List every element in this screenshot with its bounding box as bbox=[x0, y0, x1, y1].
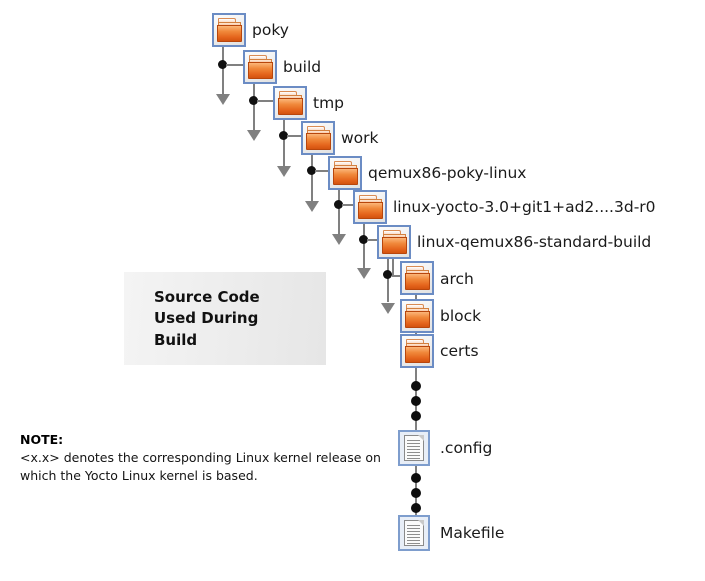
diagram-canvas: poky build tmp work qemux86-poky-linux l… bbox=[0, 0, 705, 581]
node-label-work: work bbox=[341, 131, 379, 147]
connector-vline-poky bbox=[222, 47, 224, 96]
connector-vline-build bbox=[253, 84, 255, 132]
folder-icon-linux-yocto[interactable] bbox=[353, 190, 387, 224]
folder-front-body bbox=[248, 62, 273, 79]
folder-icon-tmp[interactable] bbox=[273, 86, 307, 120]
connector-elbow-vline-arch bbox=[392, 259, 394, 276]
folder-icon-poky[interactable] bbox=[212, 13, 246, 47]
node-label-arch: arch bbox=[440, 272, 474, 288]
node-label-qemux86-poky-linux: qemux86-poky-linux bbox=[368, 166, 526, 182]
note-title: NOTE: bbox=[20, 432, 395, 448]
connector-vline-standardbuild bbox=[387, 259, 389, 302]
folder-icon-build[interactable] bbox=[243, 50, 277, 84]
node-label-poky: poky bbox=[252, 23, 289, 39]
file-icon-config[interactable] bbox=[398, 430, 430, 466]
document-text-lines bbox=[407, 440, 420, 461]
folder-front-body bbox=[405, 273, 430, 290]
arrow-head-poky bbox=[216, 94, 230, 105]
ellipsis-dot-6 bbox=[411, 503, 421, 513]
folder-front-body bbox=[278, 98, 303, 115]
folder-front-body bbox=[382, 237, 407, 254]
connector-vline-qemux86 bbox=[338, 190, 340, 236]
node-label-tmp: tmp bbox=[313, 96, 344, 112]
ellipsis-dot-4 bbox=[411, 473, 421, 483]
arrow-head-standardbuild bbox=[381, 303, 395, 314]
file-icon-makefile[interactable] bbox=[398, 515, 430, 551]
folder-icon-block[interactable] bbox=[400, 299, 434, 333]
folder-icon-certs[interactable] bbox=[400, 334, 434, 368]
note-body: <x.x> denotes the corresponding Linux ke… bbox=[20, 449, 395, 485]
connector-vline-work bbox=[311, 155, 313, 203]
source-code-callout-box: Source Code Used During Build bbox=[124, 272, 326, 365]
document-text-lines bbox=[407, 525, 420, 546]
arrow-head-linuxyocto bbox=[357, 268, 371, 279]
node-label-certs: certs bbox=[440, 344, 479, 360]
folder-front-body bbox=[405, 311, 430, 328]
arrow-head-tmp bbox=[277, 166, 291, 177]
arrow-head-build bbox=[247, 130, 261, 141]
node-label-linux-yocto: linux-yocto-3.0+git1+ad2....3d-r0 bbox=[393, 200, 656, 216]
folder-front-body bbox=[217, 25, 242, 42]
node-label-linux-qemux86-standard-build: linux-qemux86-standard-build bbox=[417, 235, 651, 251]
ellipsis-dot-2 bbox=[411, 396, 421, 406]
folder-front-body bbox=[333, 168, 358, 185]
folder-front-body bbox=[306, 133, 331, 150]
source-code-callout-label: Source Code Used During Build bbox=[154, 287, 260, 351]
ellipsis-dot-3 bbox=[411, 411, 421, 421]
node-label-build: build bbox=[283, 60, 321, 76]
note-block: NOTE: <x.x> denotes the corresponding Li… bbox=[20, 432, 395, 486]
node-label-block: block bbox=[440, 309, 481, 325]
node-label-makefile: Makefile bbox=[440, 526, 504, 542]
folder-front-body bbox=[358, 202, 383, 219]
folder-icon-qemux86-poky-linux[interactable] bbox=[328, 156, 362, 190]
connector-vline-linuxyocto bbox=[363, 224, 365, 270]
folder-front-body bbox=[405, 346, 430, 363]
folder-icon-arch[interactable] bbox=[400, 261, 434, 295]
arrow-head-work bbox=[305, 201, 319, 212]
connector-vline-tmp bbox=[283, 120, 285, 168]
folder-icon-work[interactable] bbox=[301, 121, 335, 155]
ellipsis-dot-1 bbox=[411, 381, 421, 391]
node-label-config: .config bbox=[440, 441, 492, 457]
ellipsis-dot-5 bbox=[411, 488, 421, 498]
junction-dot-standardbuild bbox=[383, 270, 392, 279]
arrow-head-qemux86 bbox=[332, 234, 346, 245]
folder-icon-linux-qemux86-standard-build[interactable] bbox=[377, 225, 411, 259]
